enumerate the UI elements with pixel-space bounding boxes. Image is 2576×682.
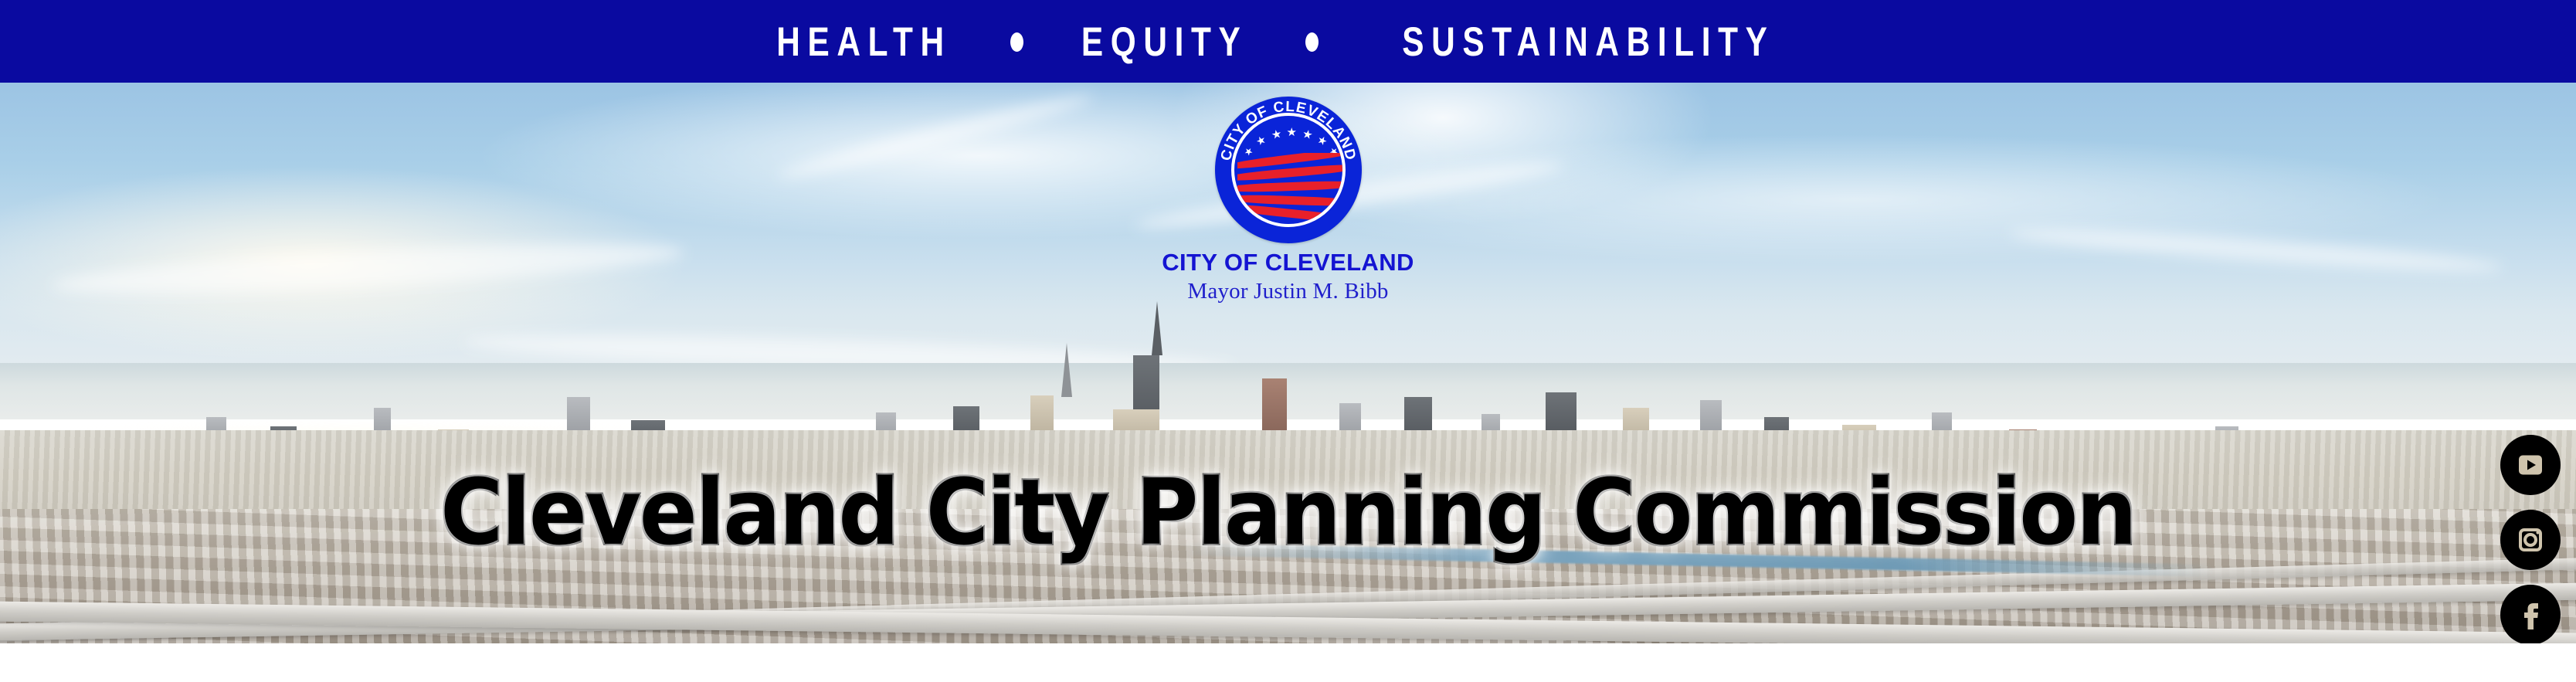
bullet-dot-icon — [1305, 32, 1319, 52]
facebook-icon[interactable] — [2500, 585, 2561, 643]
banner-word-health: HEALTH — [776, 22, 951, 63]
instagram-icon[interactable] — [2500, 510, 2561, 570]
hero-photo: CITY OF CLEVELAND OHIO ★ ★ ★ ★ ★ ★ ★ — [0, 83, 2576, 643]
org-name: CITY OF CLEVELAND — [1162, 250, 1414, 276]
city-of-cleveland-seal-icon: CITY OF CLEVELAND OHIO ★ ★ ★ ★ ★ ★ ★ — [1215, 97, 1362, 243]
social-links[interactable] — [2500, 435, 2561, 643]
city-logo-block: CITY OF CLEVELAND OHIO ★ ★ ★ ★ ★ ★ ★ — [1049, 97, 1528, 303]
american-flag-icon — [1237, 153, 1346, 222]
seal-inner-disc: ★ ★ ★ ★ ★ ★ ★ — [1231, 113, 1346, 227]
bottom-white-strip — [0, 643, 2576, 682]
page-root: HEALTH EQUITY SUSTAINABILITY — [0, 0, 2576, 682]
bullet-dot-icon — [1010, 32, 1023, 52]
youtube-icon[interactable] — [2500, 435, 2561, 495]
banner-tagline: HEALTH EQUITY SUSTAINABILITY — [755, 22, 1821, 63]
banner-word-sustainability: SUSTAINABILITY — [1403, 22, 1775, 63]
mayor-name: Mayor Justin M. Bibb — [1187, 280, 1388, 303]
banner-word-equity: EQUITY — [1081, 22, 1247, 63]
top-banner: HEALTH EQUITY SUSTAINABILITY — [0, 0, 2576, 83]
